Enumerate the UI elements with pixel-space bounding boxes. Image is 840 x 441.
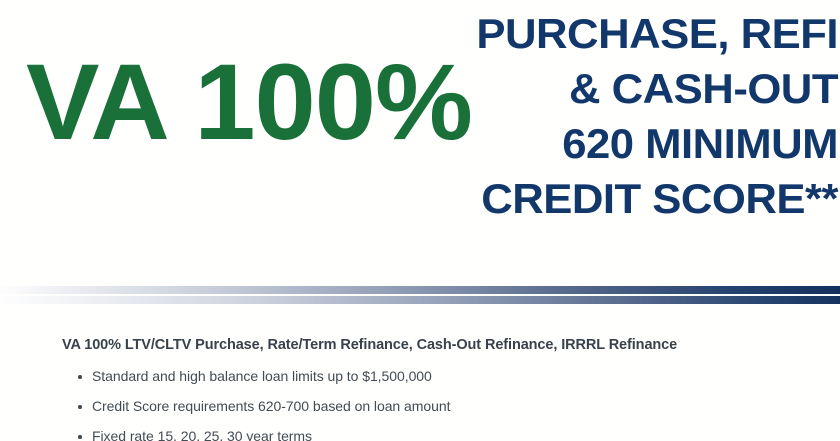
program-details-section: VA 100% LTV/CLTV Purchase, Rate/Term Ref… (0, 336, 840, 441)
hero-navy-line-3: 620 MINIMUM (349, 116, 838, 171)
program-bullet-list: Standard and high balance loan limits up… (0, 368, 840, 441)
divider-bar-lower (0, 296, 840, 304)
list-item: Credit Score requirements 620-700 based … (78, 398, 840, 415)
gradient-divider (0, 283, 840, 307)
program-heading: VA 100% LTV/CLTV Purchase, Rate/Term Ref… (62, 336, 840, 354)
hero-navy-line-4: CREDIT SCORE** (349, 171, 838, 226)
list-item: Standard and high balance loan limits up… (78, 368, 840, 385)
flyer-page: VA 100% PURCHASE, REFI & CASH-OUT 620 MI… (0, 0, 840, 441)
list-item: Fixed rate 15, 20, 25, 30 year terms (78, 428, 840, 441)
divider-bar-upper (0, 286, 840, 294)
hero-navy-line-1: PURCHASE, REFI (349, 6, 838, 61)
hero-banner: VA 100% PURCHASE, REFI & CASH-OUT 620 MI… (0, 0, 840, 286)
hero-navy-headline: PURCHASE, REFI & CASH-OUT 620 MINIMUM CR… (368, 6, 838, 226)
hero-navy-line-2: & CASH-OUT (349, 61, 838, 116)
